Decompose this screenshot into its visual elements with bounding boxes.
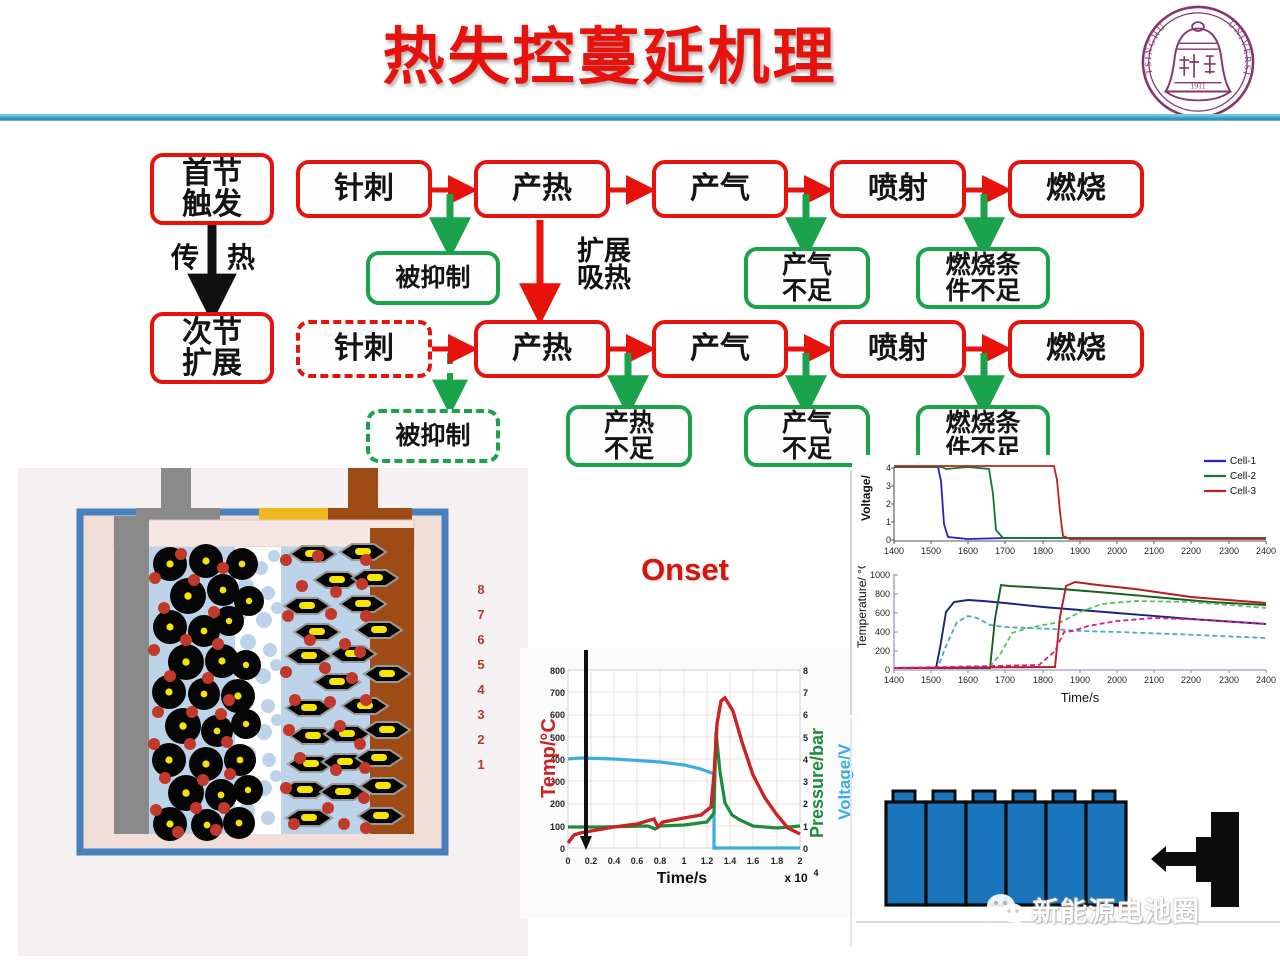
legend-number-2: 2: [477, 732, 484, 747]
temp-xtick-1500: 1500: [921, 675, 941, 685]
flow-box-r1-burn[interactable]: 燃烧: [1008, 160, 1144, 218]
flow-box-r2-heat-insufficient[interactable]: 产热 不足: [566, 405, 692, 467]
center-xtick-02: 0.2: [585, 856, 598, 866]
temp-ylabel: Temperature/ °C: [855, 566, 869, 648]
volt-series-cell1: [894, 467, 1266, 539]
temp-xtick-2400: 2400: [1256, 675, 1276, 685]
onset-label: Onset: [620, 552, 750, 592]
temperature-vs-time-chart: 1000 800 600 400 200 0 1400 1500 1600 17…: [852, 566, 1280, 714]
legend-number-6: 6: [477, 632, 484, 647]
flow-box-r1-eject[interactable]: 喷射: [830, 160, 966, 218]
wechat-watermark: 新能源电池圈: [985, 888, 1275, 930]
legend-number-5: 5: [477, 657, 484, 672]
header-divider: [0, 114, 1280, 121]
center-xtick-08: 0.8: [654, 856, 667, 866]
label-expansion-endothermic: 扩展 吸热: [554, 238, 654, 292]
slide-header: 热失控蔓延机理 1911 TSINGHUA UNIVERSITY: [0, 0, 1280, 118]
tsinghua-university-seal-icon: 1911 TSINGHUA UNIVERSITY: [1139, 3, 1257, 121]
center-xtick-04: 0.4: [608, 856, 621, 866]
volt-legend: Cell-1 Cell-2 Cell-3: [1204, 456, 1257, 497]
volt-legend-cell2: Cell-2: [1230, 471, 1257, 482]
temp-xtick-1600: 1600: [958, 675, 978, 685]
volt-legend-cell3: Cell-3: [1230, 486, 1257, 497]
label-heat-transfer: 传 热: [152, 244, 274, 272]
legend-number-1: 1: [477, 757, 484, 772]
center-ytick-200: 200: [550, 799, 565, 809]
flow-box-r1-gas[interactable]: 产气: [652, 160, 788, 218]
thermal-runaway-flowchart: 首节 触发 针刺 产热 产气 喷射 燃烧 被抑制 产气 不足 燃烧条 件不足 传…: [0, 138, 1280, 473]
flow-box-r2-heat[interactable]: 产热: [474, 320, 610, 378]
center-x-exponent-sup: 4: [813, 868, 818, 878]
volt-legend-cell1: Cell-1: [1230, 456, 1257, 467]
volt-ytick-3: 3: [886, 481, 891, 491]
temp-xtick-2300: 2300: [1219, 675, 1239, 685]
center-rtick-7: 7: [803, 688, 808, 698]
volt-xtick-2000: 2000: [1107, 546, 1127, 556]
logo-year: 1911: [1190, 82, 1205, 91]
temp-xtick-1900: 1900: [1070, 675, 1090, 685]
temp-xtick-2000: 2000: [1107, 675, 1127, 685]
volt-xtick-1600: 1600: [958, 546, 978, 556]
center-ytick-0: 0: [560, 844, 565, 854]
volt-ytick-1: 1: [886, 517, 891, 527]
volt-series-cell2: [894, 467, 1266, 538]
slide-root: 热失控蔓延机理 1911 TSINGHUA UNIVERSITY: [0, 0, 1280, 960]
wechat-icon: [985, 892, 1025, 926]
center-xlabel: Time/s: [657, 870, 708, 887]
flow-box-r1-nail[interactable]: 针刺: [296, 160, 432, 218]
volt-xtick-1700: 1700: [995, 546, 1015, 556]
legend-number-8: 8: [477, 582, 484, 597]
center-xtick-14: 1.4: [724, 856, 737, 866]
temp-xtick-2100: 2100: [1144, 675, 1164, 685]
center-ytick-800: 800: [550, 666, 565, 676]
volt-xtick-1800: 1800: [1033, 546, 1053, 556]
center-rtick-6: 6: [803, 710, 808, 720]
center-multi-axis-chart: 800 700 600 500 400 300 200 100 0 8 7 6 …: [520, 648, 860, 918]
center-right-axis-label-pressure: Pressure/bar: [807, 728, 827, 838]
temp-ytick-800: 800: [875, 589, 890, 599]
temp-ytick-200: 200: [875, 646, 890, 656]
temp-xtick-1800: 1800: [1033, 675, 1053, 685]
watermark-text: 新能源电池圈: [1032, 890, 1200, 929]
volt-xtick-2100: 2100: [1144, 546, 1164, 556]
volt-xtick-1900: 1900: [1070, 546, 1090, 556]
flow-box-r2-eject[interactable]: 喷射: [830, 320, 966, 378]
temp-ytick-1000: 1000: [870, 570, 890, 580]
temp-series-cell1-solid: [894, 600, 1266, 668]
volt-ytick-4: 4: [886, 463, 891, 473]
center-rtick-0: 0: [803, 844, 808, 854]
temp-xtick-2200: 2200: [1181, 675, 1201, 685]
page-title: 热失控蔓延机理: [330, 14, 890, 102]
center-left-axis-label: Temp/°C: [538, 718, 560, 798]
temp-series-cell2-dashed: [894, 601, 1266, 668]
temp-xtick-1700: 1700: [995, 675, 1015, 685]
temp-series-cell2-solid: [894, 585, 1266, 668]
flow-box-r1-heat[interactable]: 产热: [474, 160, 610, 218]
legend-number-4: 4: [477, 682, 485, 697]
volt-ylabel: Voltage/: [859, 475, 873, 521]
volt-ytick-2: 2: [886, 499, 891, 509]
flow-box-r2-nail[interactable]: 针刺: [296, 320, 432, 378]
center-xtick-12: 1.2: [701, 856, 714, 866]
center-x-exponent: x 10: [784, 871, 808, 885]
center-xtick-16: 1.6: [747, 856, 760, 866]
volt-xtick-2200: 2200: [1181, 546, 1201, 556]
flow-box-r2-suppressed[interactable]: 被抑制: [366, 409, 500, 463]
center-xtick-0: 0: [565, 856, 570, 866]
center-xtick-1: 1: [681, 856, 686, 866]
volt-xtick-2400: 2400: [1256, 546, 1276, 556]
temp-xtick-1400: 1400: [884, 675, 904, 685]
temp-series-cell3-solid: [894, 582, 1266, 668]
volt-ytick-0: 0: [886, 535, 891, 545]
temp-ytick-600: 600: [875, 608, 890, 618]
volt-xtick-1400: 1400: [884, 546, 904, 556]
flow-box-r2-burn[interactable]: 燃烧: [1008, 320, 1144, 378]
lithium-cell-cross-section-icon: 8 7 6 5 4 3 2 1: [18, 468, 528, 956]
temp-series-cell1-dashed: [894, 616, 1266, 668]
temp-series-cell3-dashed: [894, 618, 1266, 668]
center-rtick-8: 8: [803, 666, 808, 676]
flow-box-r1-combustion-conditions-insufficient[interactable]: 燃烧条 件不足: [916, 247, 1050, 309]
voltage-vs-time-chart: 4 3 2 1 0 1400 1500 1600 1700 1800 1900 …: [852, 455, 1280, 570]
flow-box-trigger-first[interactable]: 首节 触发: [150, 153, 274, 225]
center-xtick-2: 2: [797, 856, 802, 866]
legend-number-7: 7: [477, 607, 484, 622]
flow-box-propagation-second[interactable]: 次节 扩展: [150, 312, 274, 384]
flow-box-r1-gas-insufficient[interactable]: 产气 不足: [744, 247, 870, 309]
volt-xtick-2300: 2300: [1219, 546, 1239, 556]
flow-box-r1-suppressed[interactable]: 被抑制: [366, 251, 500, 305]
right-panel-divider-lower: [850, 718, 852, 946]
center-xtick-18: 1.8: [771, 856, 784, 866]
center-ytick-700: 700: [550, 688, 565, 698]
temp-xlabel: Time/s: [1061, 690, 1100, 705]
legend-number-3: 3: [477, 707, 484, 722]
temp-ytick-0: 0: [885, 665, 890, 675]
temp-ytick-400: 400: [875, 627, 890, 637]
center-xtick-06: 0.6: [631, 856, 644, 866]
flow-box-r2-gas[interactable]: 产气: [652, 320, 788, 378]
volt-xtick-1500: 1500: [921, 546, 941, 556]
center-ytick-100: 100: [550, 822, 565, 832]
battery-cross-section-panel: 8 7 6 5 4 3 2 1: [18, 468, 528, 956]
